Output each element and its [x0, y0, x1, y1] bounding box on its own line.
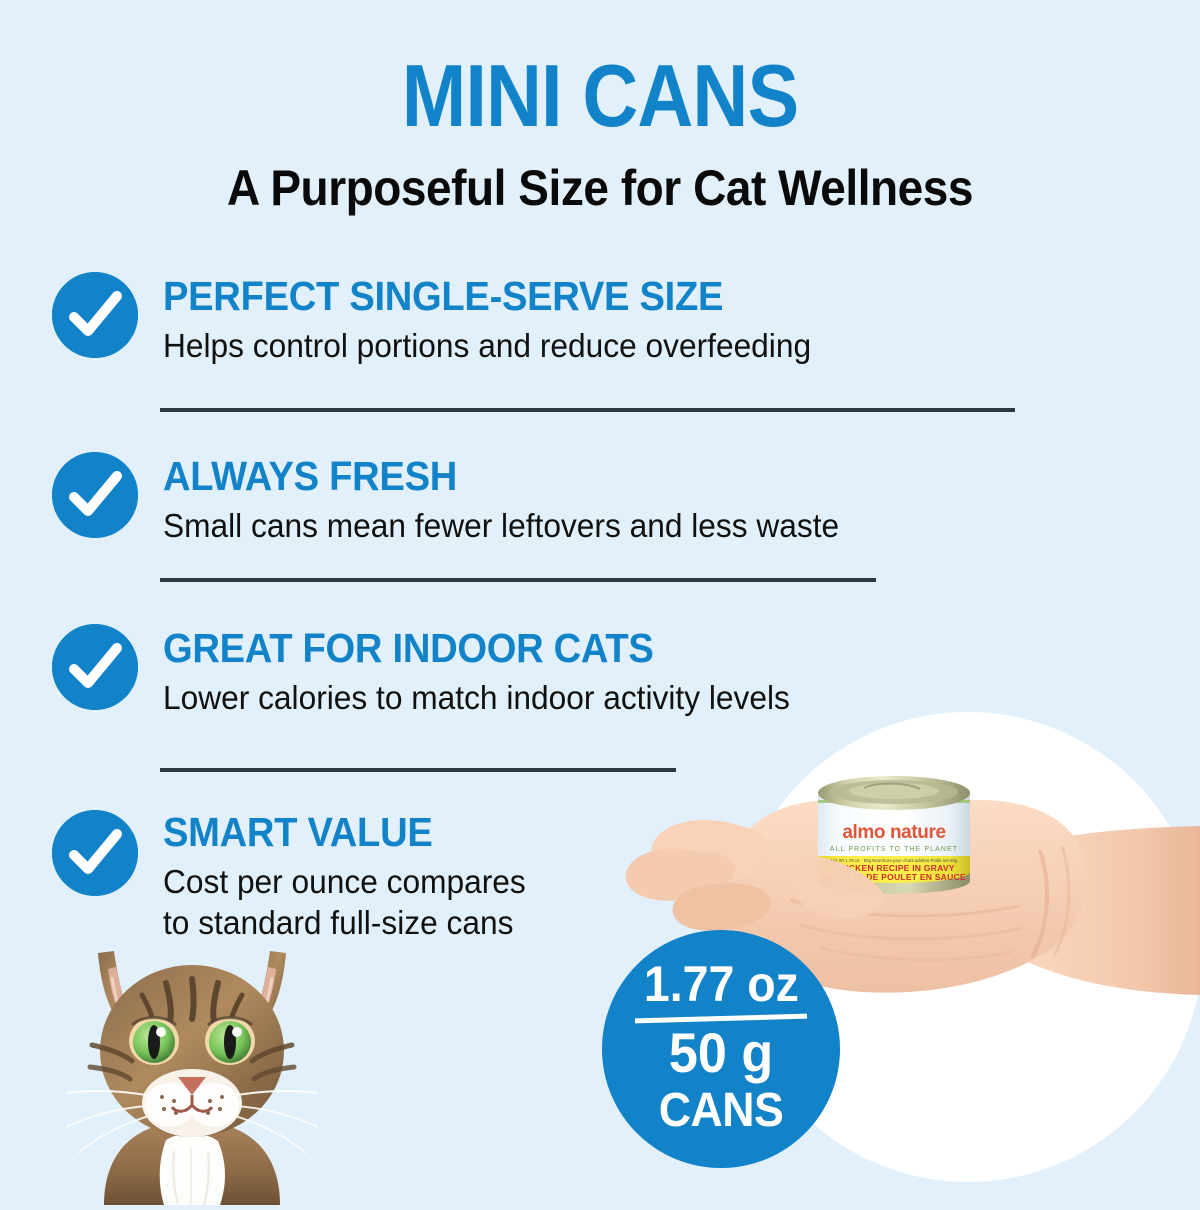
feature-title: SMART VALUE	[163, 812, 514, 853]
check-circle-icon	[52, 272, 138, 358]
feature-description: Cost per ounce compares	[163, 862, 526, 902]
feature-description: Lower calories to match indoor activity …	[163, 678, 790, 718]
header: MINI CANS A Purposeful Size for Cat Well…	[0, 0, 1200, 215]
check-circle-icon	[52, 452, 138, 538]
feature-title: GREAT FOR INDOOR CATS	[163, 628, 770, 669]
cat-image	[62, 925, 322, 1205]
weight-badge: 1.77 oz 50 g CANS	[602, 930, 840, 1168]
check-circle-icon	[52, 810, 138, 896]
feature-title: ALWAYS FRESH	[163, 456, 818, 497]
badge-grams: 50 g	[669, 1025, 773, 1081]
page-title: MINI CANS	[72, 52, 1128, 140]
feature-divider	[160, 408, 1015, 412]
feature-description: Helps control portions and reduce overfe…	[163, 326, 811, 366]
badge-cans-label: CANS	[659, 1087, 784, 1135]
feature-divider	[160, 768, 676, 772]
feature-divider	[160, 578, 876, 582]
feature-title: PERFECT SINGLE-SERVE SIZE	[163, 276, 791, 317]
badge-ounces: 1.77 oz	[643, 959, 798, 1009]
page-subtitle: A Purposeful Size for Cat Wellness	[48, 162, 1152, 215]
feature-description: Small cans mean fewer leftovers and less…	[163, 506, 839, 546]
check-circle-icon	[52, 624, 138, 710]
